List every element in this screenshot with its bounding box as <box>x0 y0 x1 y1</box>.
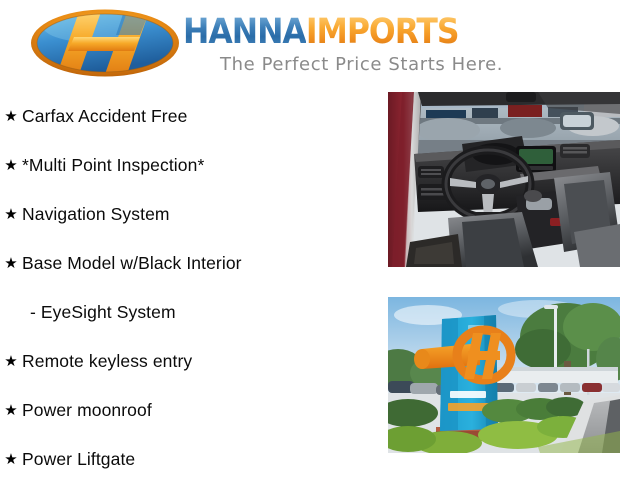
feature-label: Remote keyless entry <box>22 351 192 372</box>
feature-label: Power moonroof <box>22 400 152 421</box>
feature-label: Base Model w/Black Interior <box>22 253 242 274</box>
feature-item: ★ Base Model w/Black Interior <box>0 239 380 288</box>
brand-wordmark: HANNAIMPORTS The Perfect Price Starts He… <box>183 14 513 76</box>
brand-header: HANNAIMPORTS The Perfect Price Starts He… <box>0 0 640 88</box>
feature-label: Power Liftgate <box>22 449 135 470</box>
star-bullet-icon: ★ <box>0 354 22 369</box>
feature-label: *Multi Point Inspection* <box>22 155 204 176</box>
brand-name-imports: IMPORTS <box>306 12 459 52</box>
star-bullet-icon: ★ <box>0 207 22 222</box>
star-bullet-icon: ★ <box>0 158 22 173</box>
feature-item: ★ Navigation System <box>0 190 380 239</box>
vehicle-interior-photo <box>388 92 620 267</box>
feature-label: Carfax Accident Free <box>22 106 187 127</box>
feature-item: ★ Power Liftgate <box>0 435 380 484</box>
feature-item: ★ Remote keyless entry <box>0 337 380 386</box>
star-bullet-icon: ★ <box>0 109 22 124</box>
star-bullet-icon: ★ <box>0 452 22 467</box>
feature-sub-item: - EyeSight System <box>0 288 380 337</box>
feature-item: ★ *Multi Point Inspection* <box>0 141 380 190</box>
feature-label: - EyeSight System <box>22 302 176 323</box>
hanna-oval-h-logo-icon <box>28 9 182 77</box>
vehicle-feature-list: ★ Carfax Accident Free ★ *Multi Point In… <box>0 92 380 484</box>
star-bullet-icon: ★ <box>0 256 22 271</box>
feature-item: ★ Power moonroof <box>0 386 380 435</box>
brand-name-hanna: HANNA <box>183 12 306 52</box>
dealership-sign-photo <box>388 297 620 453</box>
feature-label: Navigation System <box>22 204 170 225</box>
brand-tagline: The Perfect Price Starts Here. <box>220 54 503 75</box>
feature-item: ★ Carfax Accident Free <box>0 92 380 141</box>
star-bullet-icon: ★ <box>0 403 22 418</box>
